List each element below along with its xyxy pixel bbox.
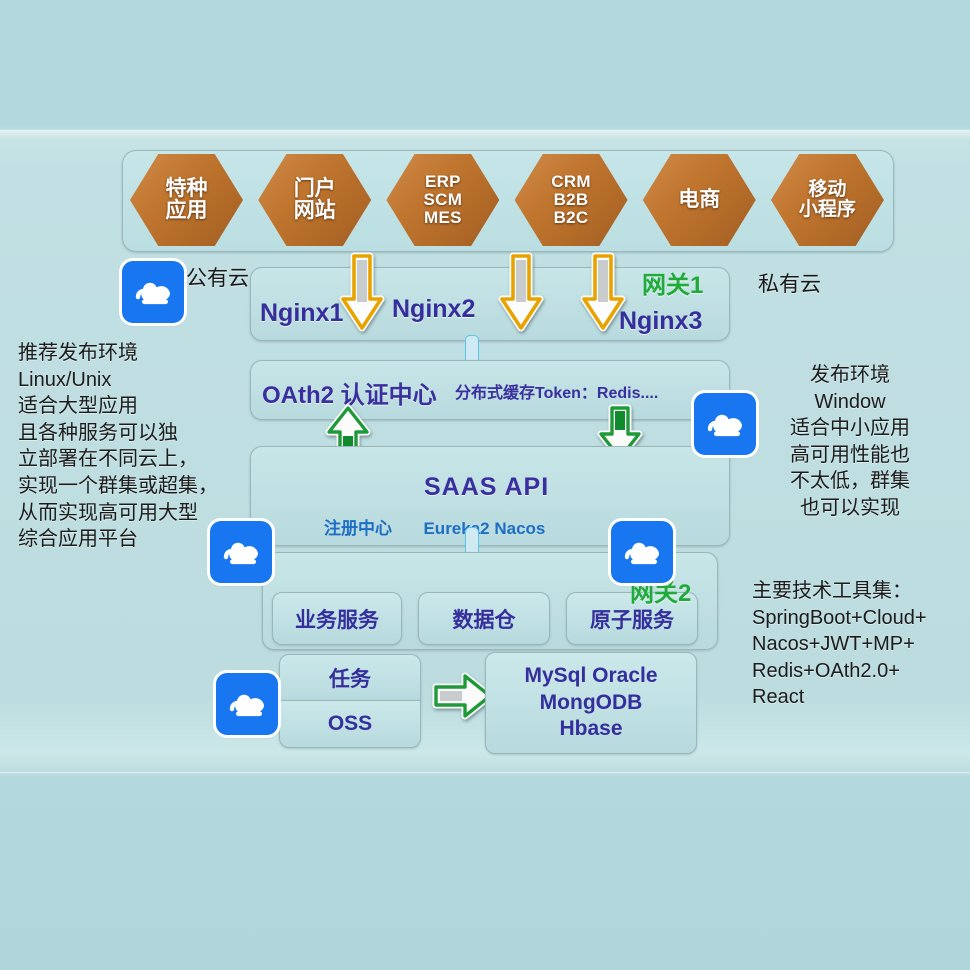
arrow-down-gold-icon — [577, 252, 629, 339]
service-box-datawarehouse[interactable]: 数据仓 — [418, 592, 550, 645]
arrow-down-gold-icon — [495, 252, 547, 339]
database-line-2: MongODB — [540, 690, 643, 717]
registry-items: Eureka2 Nacos — [423, 519, 545, 538]
nginx2-label: Nginx2 — [392, 295, 475, 324]
cloud-icon[interactable] — [611, 521, 673, 583]
app-hex-label: 移动小程序 — [799, 180, 856, 220]
registry-row: 注册中心 Eureka2 Nacos — [324, 514, 545, 539]
service-box-business[interactable]: 业务服务 — [272, 592, 402, 645]
service-box-label: 数据仓 — [453, 604, 516, 634]
left-annotation-text: 推荐发布环境 Linux/Unix 适合大型应用 且各种服务可以独 立部署在不同… — [18, 340, 233, 553]
app-hex-portal[interactable]: 门户网站 — [258, 154, 371, 246]
app-hex-label: ERPSCMMES — [424, 173, 463, 227]
app-hex-label: 门户网站 — [294, 178, 336, 222]
registry-label: 注册中心 — [324, 519, 392, 538]
app-hex-erp[interactable]: ERPSCMMES — [386, 154, 499, 246]
diagram-canvas: 特种应用 门户网站 ERPSCMMES CRMB2BB2C 电商 移动小程序 N… — [0, 0, 970, 970]
nginx3-label: Nginx3 — [619, 307, 702, 336]
oss-box[interactable]: OSS — [279, 700, 421, 748]
app-hex-label: CRMB2BB2C — [551, 173, 591, 227]
nginx1-label: Nginx1 — [260, 299, 343, 328]
app-hex-label: 电商 — [678, 189, 720, 211]
app-hex-crm[interactable]: CRMB2BB2C — [515, 154, 628, 246]
app-hex-mobile[interactable]: 移动小程序 — [771, 154, 884, 246]
database-line-3: Hbase — [559, 716, 622, 743]
database-line-1: MySql Oracle — [524, 663, 657, 690]
right-techstack-annotation: 主要技术工具集： SpringBoot+Cloud+ Nacos+JWT+MP+… — [752, 578, 967, 711]
cloud-icon[interactable] — [122, 261, 184, 323]
auth-cache-subtitle: 分布式缓存Token：Redis.... — [455, 379, 658, 403]
cloud-icon[interactable] — [694, 393, 756, 455]
task-box-label: 任务 — [329, 663, 371, 693]
task-box[interactable]: 任务 — [279, 654, 421, 702]
arrow-down-gold-icon — [336, 252, 388, 339]
public-cloud-label: 公有云 — [186, 262, 249, 292]
gateway1-label: 网关1 — [642, 265, 703, 300]
right-environment-annotation: 发布环境 Window 适合中小应用 高可用性能也 不太低，群集 也可以实现 — [750, 362, 950, 522]
app-hex-ecommerce[interactable]: 电商 — [643, 154, 756, 246]
applications-hexagon-row: 特种应用 门户网站 ERPSCMMES CRMB2BB2C 电商 移动小程序 — [122, 150, 892, 250]
database-box[interactable]: MySql Oracle MongODB Hbase — [485, 652, 697, 754]
service-box-label: 原子服务 — [590, 604, 674, 634]
oss-box-label: OSS — [328, 712, 372, 736]
saas-api-title: SAAS API — [424, 473, 549, 502]
cloud-icon[interactable] — [216, 673, 278, 735]
app-hex-label: 特种应用 — [166, 178, 208, 222]
private-cloud-label: 私有云 — [758, 268, 821, 298]
app-hex-special[interactable]: 特种应用 — [130, 154, 243, 246]
service-box-label: 业务服务 — [295, 604, 379, 634]
